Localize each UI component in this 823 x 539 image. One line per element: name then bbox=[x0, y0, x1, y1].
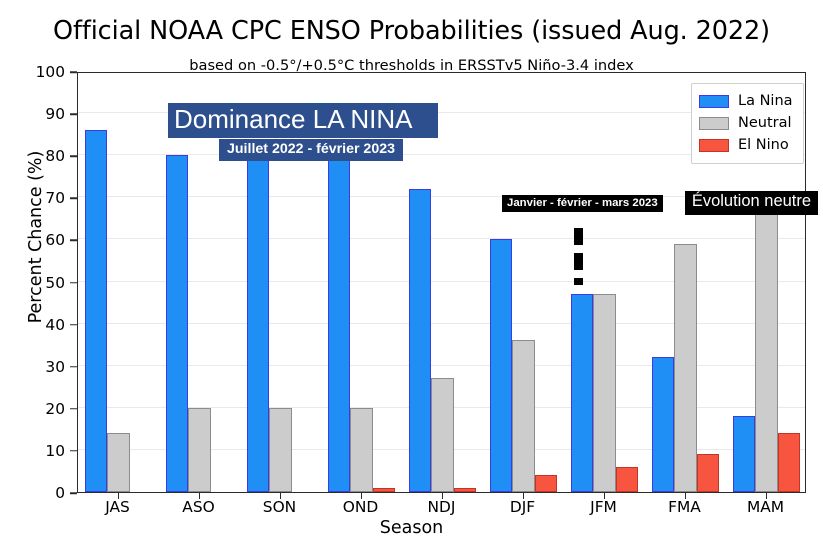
dash-segment bbox=[574, 253, 583, 270]
y-tick-mark bbox=[70, 71, 77, 73]
y-tick-mark bbox=[70, 324, 77, 326]
annotation-evolution-neutre-sub: Janvier - février - mars 2023 bbox=[502, 195, 663, 212]
x-tick-label: OND bbox=[343, 498, 378, 516]
bar-aso-la-nina bbox=[166, 155, 189, 492]
y-tick-mark bbox=[70, 113, 77, 115]
y-tick-label: 20 bbox=[5, 400, 65, 418]
dash-segment bbox=[574, 228, 583, 245]
x-tick-mark bbox=[523, 493, 525, 499]
x-tick-label: FMA bbox=[668, 498, 701, 516]
bar-djf-la-nina bbox=[490, 239, 513, 492]
bar-djf-neutral bbox=[512, 340, 535, 492]
x-tick-label: SON bbox=[263, 498, 296, 516]
annotation-evolution-neutre-main: Évolution neutre bbox=[685, 191, 818, 215]
x-tick-label: DJF bbox=[510, 498, 535, 516]
y-tick-label: 80 bbox=[5, 147, 65, 165]
bar-fma-neutral bbox=[674, 244, 697, 492]
x-tick-label: NDJ bbox=[428, 498, 456, 516]
bar-jfm-el-nino bbox=[616, 467, 639, 492]
x-tick-label: MAM bbox=[747, 498, 784, 516]
legend-label: La Nina bbox=[738, 93, 793, 109]
bar-mam-la-nina bbox=[733, 416, 756, 492]
bar-ndj-el-nino bbox=[454, 488, 477, 492]
y-tick-label: 60 bbox=[5, 231, 65, 249]
legend-swatch-neutral bbox=[699, 117, 729, 130]
bar-jfm-neutral bbox=[593, 294, 616, 492]
x-tick-mark bbox=[280, 493, 282, 499]
bar-son-neutral bbox=[269, 408, 292, 492]
y-tick-mark bbox=[70, 155, 77, 157]
legend-item-la-nina[interactable]: La Nina bbox=[699, 90, 796, 112]
x-axis-label: Season bbox=[0, 518, 823, 538]
dash-segment bbox=[574, 278, 583, 285]
y-tick-label: 100 bbox=[5, 63, 65, 81]
x-tick-mark bbox=[442, 493, 444, 499]
x-tick-mark bbox=[685, 493, 687, 499]
y-tick-mark bbox=[70, 450, 77, 452]
chart-title: Official NOAA CPC ENSO Probabilities (is… bbox=[0, 16, 823, 46]
bar-aso-neutral bbox=[188, 408, 211, 492]
annotation-dominance-la-nina: Dominance LA NINA Juillet 2022 - février… bbox=[168, 103, 438, 161]
x-tick-label: ASO bbox=[182, 498, 214, 516]
x-tick-mark bbox=[361, 493, 363, 499]
bar-ond-la-nina bbox=[328, 159, 351, 492]
x-tick-mark bbox=[604, 493, 606, 499]
y-tick-label: 90 bbox=[5, 105, 65, 123]
bar-ond-neutral bbox=[350, 408, 373, 492]
bar-djf-el-nino bbox=[535, 475, 558, 492]
annotation-evolution-neutre: Janvier - février - mars 2023 Évolution … bbox=[502, 191, 818, 215]
y-tick-label: 70 bbox=[5, 189, 65, 207]
x-tick-label: JAS bbox=[105, 498, 130, 516]
y-tick-mark bbox=[70, 492, 77, 494]
y-tick-label: 0 bbox=[5, 484, 65, 502]
y-tick-mark bbox=[70, 198, 77, 200]
annotation-pointer-dashed-line bbox=[574, 228, 583, 296]
legend-swatch-el-nino bbox=[699, 139, 729, 152]
legend-item-neutral[interactable]: Neutral bbox=[699, 112, 796, 134]
y-tick-label: 50 bbox=[5, 274, 65, 292]
bar-mam-el-nino bbox=[778, 433, 801, 492]
x-tick-mark bbox=[199, 493, 201, 499]
x-tick-label: JFM bbox=[590, 498, 617, 516]
bar-jas-neutral bbox=[107, 433, 130, 492]
bar-mam-neutral bbox=[755, 206, 778, 492]
legend-swatch-la-nina bbox=[699, 95, 729, 108]
annotation-dominance-la-nina-main: Dominance LA NINA bbox=[168, 103, 438, 138]
chart-legend: La NinaNeutralEl Nino bbox=[691, 83, 804, 164]
y-tick-mark bbox=[70, 240, 77, 242]
bar-jfm-la-nina bbox=[571, 294, 594, 492]
bar-son-la-nina bbox=[247, 155, 270, 492]
legend-item-el-nino[interactable]: El Nino bbox=[699, 134, 796, 156]
y-tick-mark bbox=[70, 282, 77, 284]
x-tick-mark bbox=[766, 493, 768, 499]
y-tick-label: 40 bbox=[5, 316, 65, 334]
bar-ond-el-nino bbox=[373, 488, 396, 492]
y-tick-mark bbox=[70, 366, 77, 368]
y-tick-mark bbox=[70, 408, 77, 410]
legend-label: El Nino bbox=[738, 137, 789, 153]
bar-fma-la-nina bbox=[652, 357, 675, 492]
annotation-dominance-la-nina-sub: Juillet 2022 - février 2023 bbox=[219, 139, 403, 161]
bar-ndj-la-nina bbox=[409, 189, 432, 492]
bar-jas-la-nina bbox=[85, 130, 108, 492]
bar-fma-el-nino bbox=[697, 454, 720, 492]
bar-ndj-neutral bbox=[431, 378, 454, 492]
enso-probability-chart-figure: Official NOAA CPC ENSO Probabilities (is… bbox=[0, 0, 823, 539]
y-tick-label: 10 bbox=[5, 442, 65, 460]
y-tick-label: 30 bbox=[5, 358, 65, 376]
x-tick-mark bbox=[118, 493, 120, 499]
legend-label: Neutral bbox=[738, 115, 792, 131]
